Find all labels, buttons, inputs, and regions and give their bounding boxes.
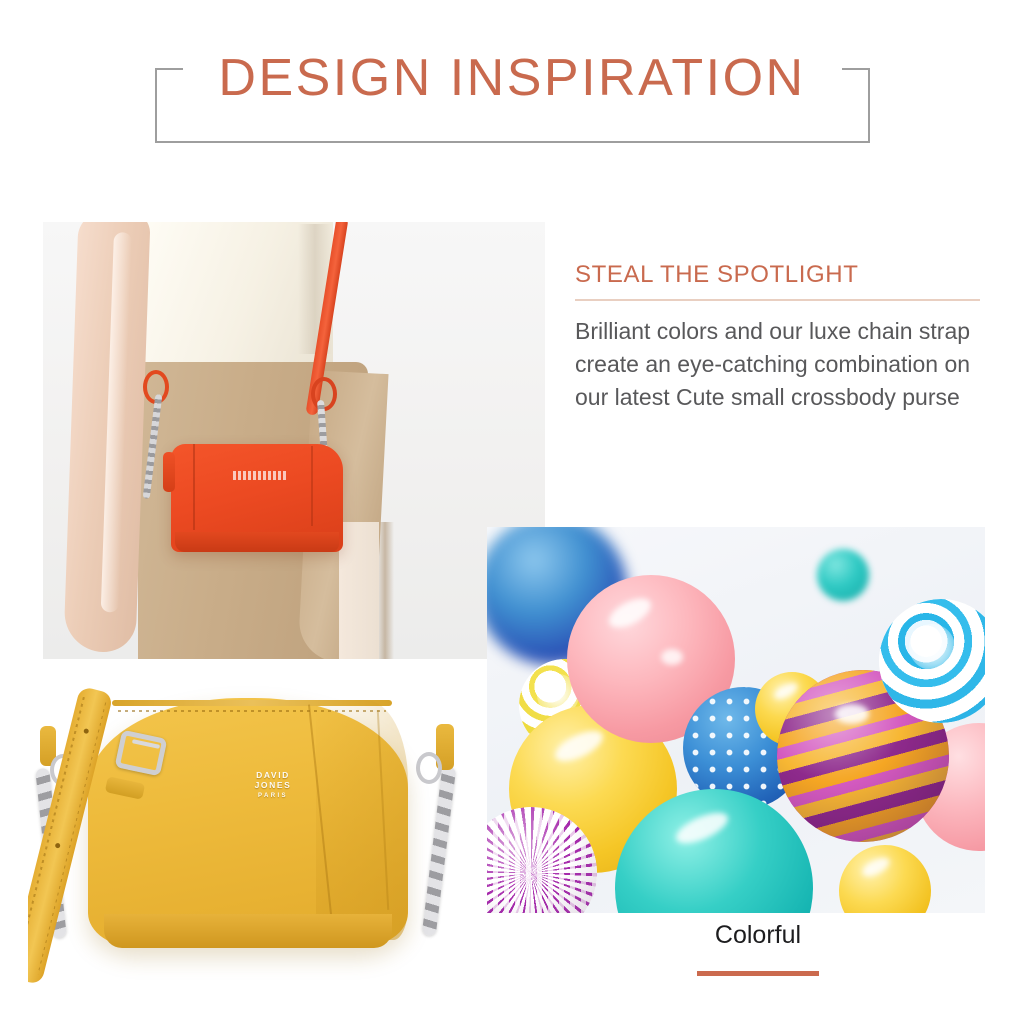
- sphere-glow: [909, 624, 955, 670]
- model-arm: [63, 222, 150, 653]
- brand-logo: DAVID JONES PARIS: [238, 770, 308, 799]
- orange-crossbody-bag: [171, 444, 343, 552]
- caption-label: Colorful: [697, 923, 819, 948]
- specular-highlight: [672, 806, 732, 849]
- model-leg: [339, 522, 379, 659]
- model-lifestyle-photo: [43, 222, 545, 659]
- bag-base-panel: [175, 532, 339, 552]
- caption-underline: [697, 971, 819, 976]
- teal-small-sphere: [817, 549, 869, 601]
- brand-city: PARIS: [238, 793, 308, 799]
- marketing-page: DESIGN INSPIRATION STEAL THE SPOTLIG: [0, 0, 1024, 1024]
- bag-brand-plate: [233, 471, 287, 480]
- page-title: DESIGN INSPIRATION: [0, 52, 1024, 104]
- brand-name: DAVID JONES: [238, 770, 308, 790]
- bag-side-tab: [163, 452, 175, 492]
- bag-seam-right: [311, 446, 313, 526]
- copy-block: STEAL THE SPOTLIGHT Brilliant colors and…: [575, 262, 985, 414]
- model-cream-top: [138, 222, 333, 379]
- yellow-bag-product-photo: DAVID JONES PARIS: [28, 662, 490, 1012]
- copy-body-text: Brilliant colors and our luxe chain stra…: [575, 315, 985, 414]
- specular-highlight: [550, 725, 606, 768]
- yellow-bottom-right-sphere: [839, 845, 931, 913]
- specular-highlight: [605, 592, 656, 633]
- section-caption: Colorful: [697, 923, 819, 976]
- bag-seam-left: [193, 444, 195, 530]
- bag-base: [104, 914, 392, 948]
- arm-highlight: [101, 232, 132, 612]
- colorful-spheres-photo: [487, 527, 985, 913]
- hardware-ring-right: [416, 752, 442, 784]
- chain-link-right: [422, 766, 457, 936]
- copy-divider: [575, 299, 980, 301]
- frame-bottom-edge: [155, 141, 870, 143]
- strap-hole-lower: [55, 843, 61, 849]
- strap-hole-upper: [83, 728, 89, 734]
- secondary-highlight: [661, 649, 683, 665]
- specular-highlight: [771, 680, 800, 703]
- copy-heading: STEAL THE SPOTLIGHT: [575, 262, 985, 288]
- specular-highlight: [860, 853, 893, 879]
